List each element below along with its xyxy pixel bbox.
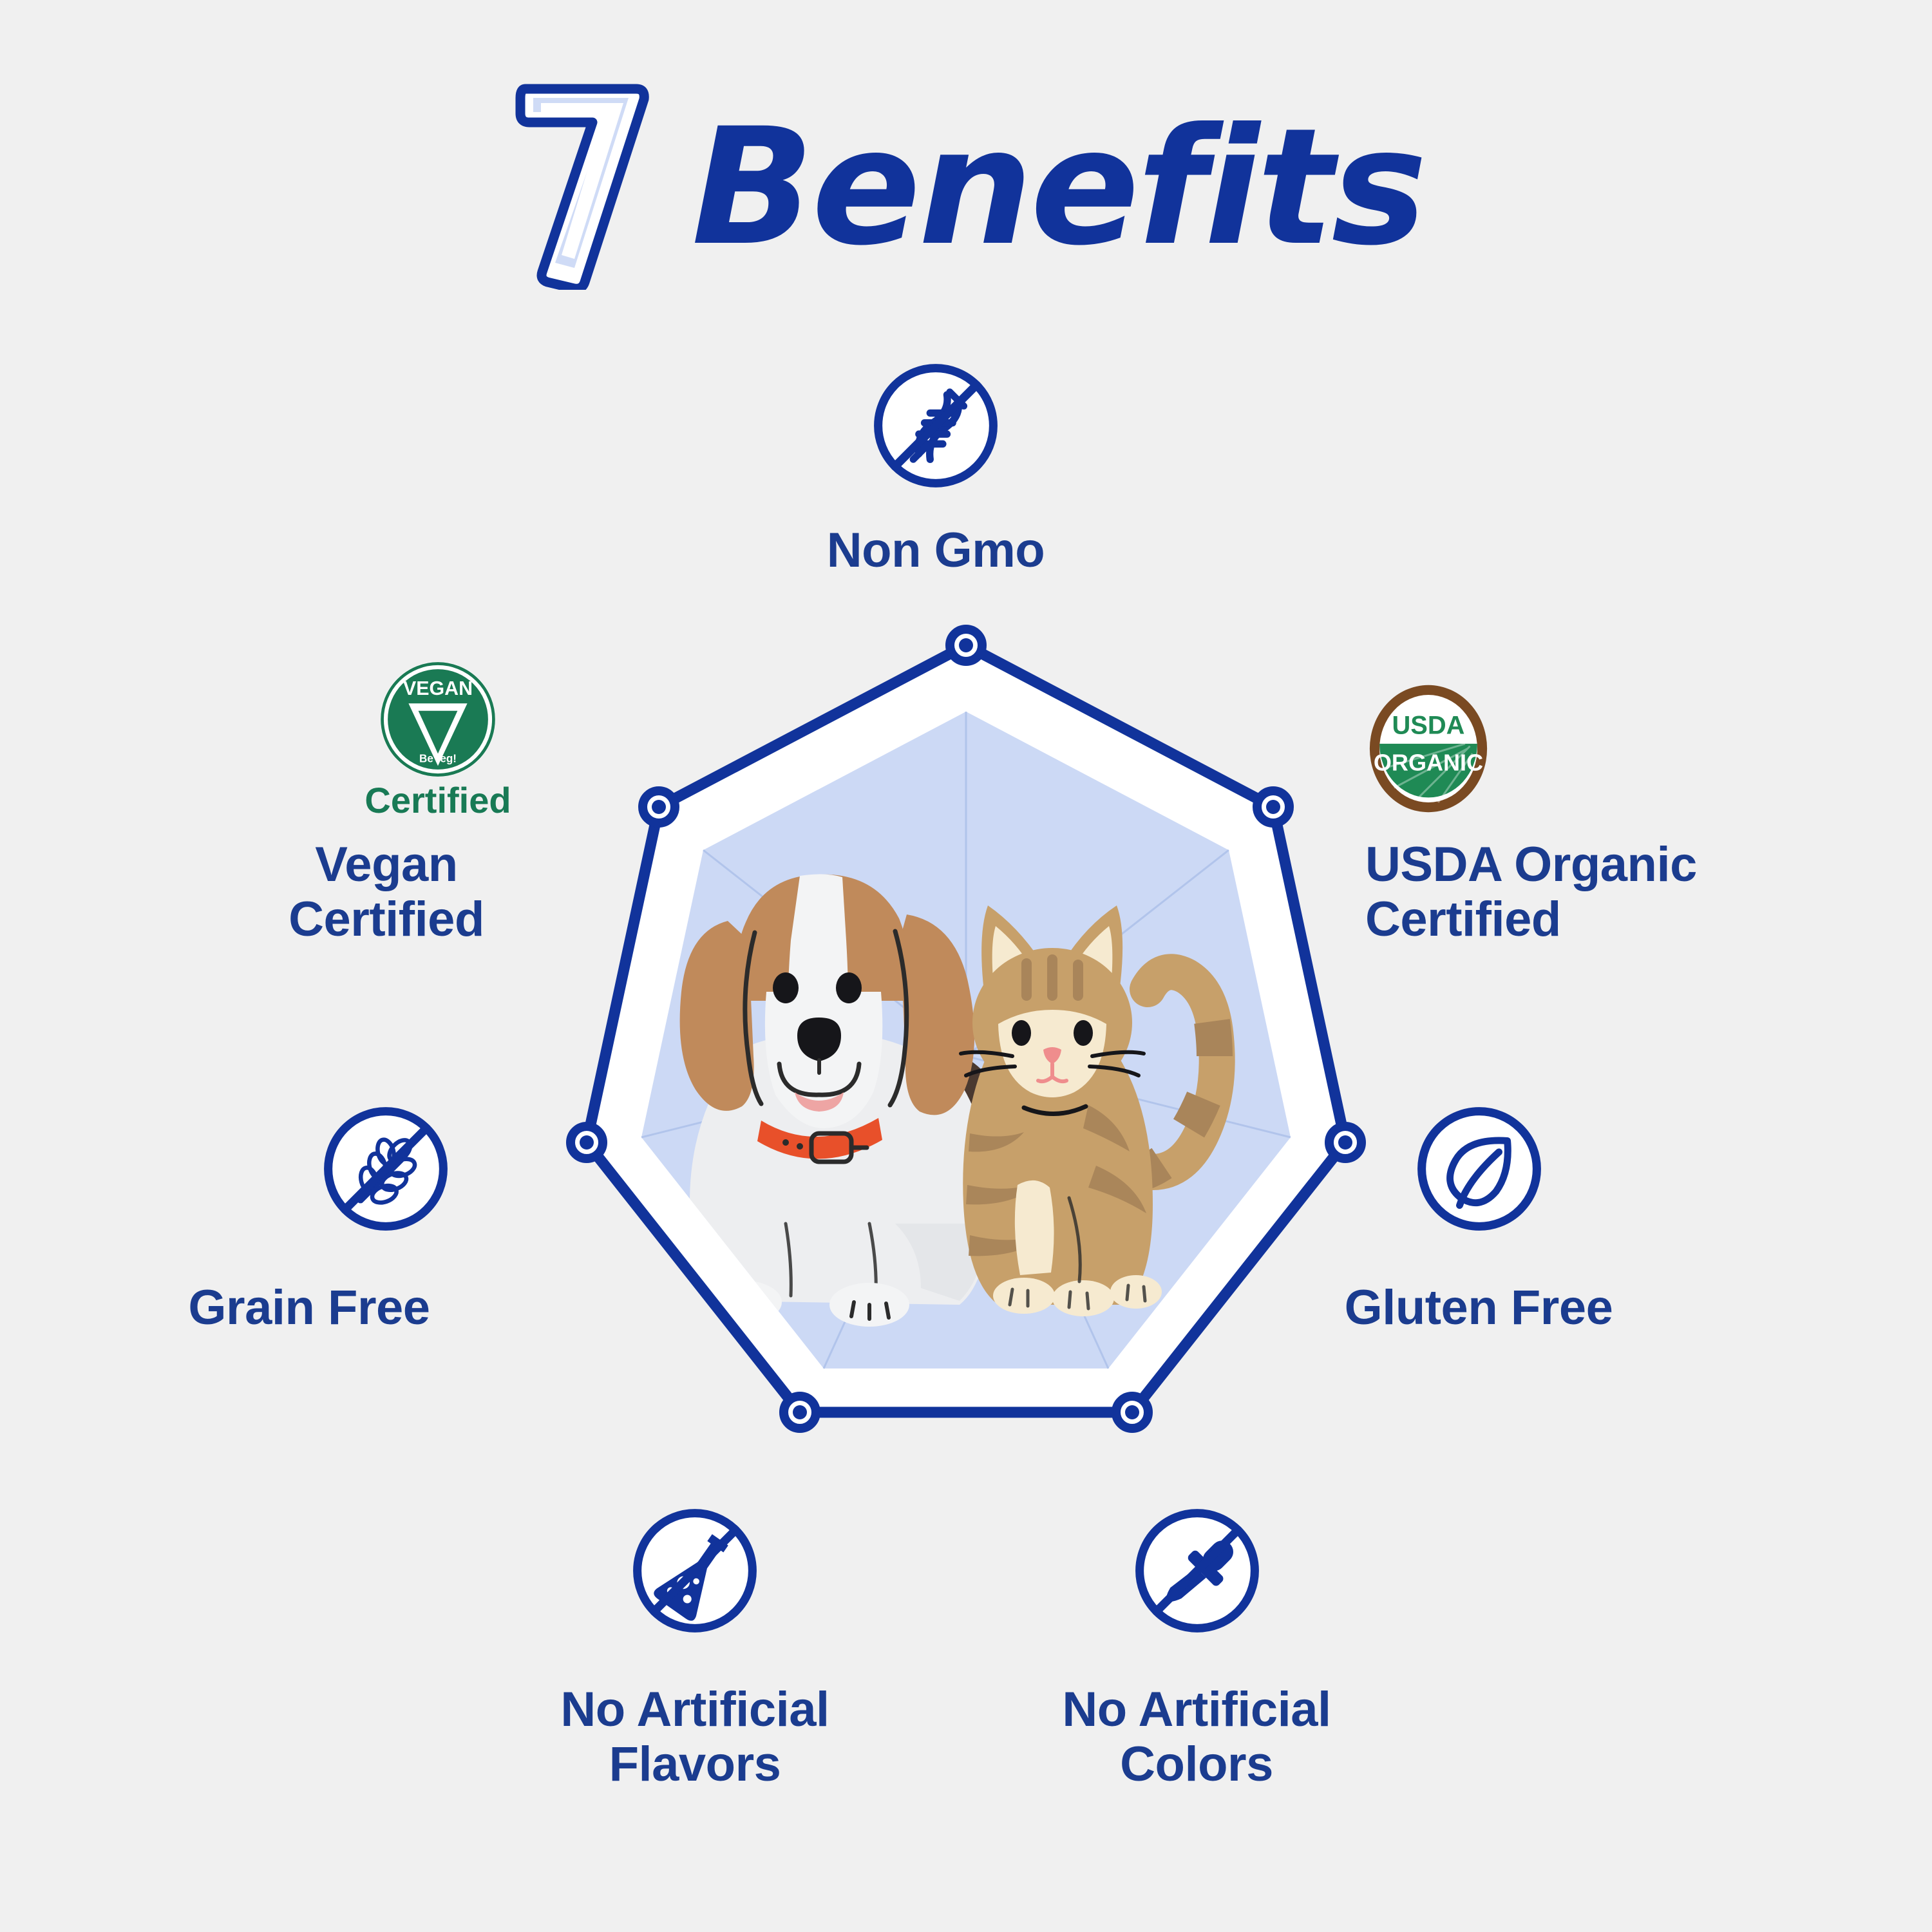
vegan-seal-caption: Certified [309, 779, 567, 821]
benefit-label-gluten-free: Gluten Free [1189, 1280, 1768, 1335]
no-wheat-icon[interactable] [316, 1099, 456, 1239]
title-number-seven-icon [507, 77, 675, 290]
benefit-label-grain-free: Grain Free [39, 1280, 580, 1335]
benefit-label-no-artificial-flavors: No Artificial Flavors [405, 1682, 985, 1792]
page-title: Benefits [0, 77, 1932, 290]
vegan-seal-top-text: VEGAN [403, 677, 473, 699]
benefit-label-vegan-certified: Vegan Certified [142, 837, 631, 947]
benefit-label-no-artificial-colors: No Artificial Colors [907, 1682, 1486, 1792]
central-heptagon-illustration [509, 605, 1423, 1468]
benefit-label-usda-organic-certified: USDA Organic Certified [1365, 837, 1829, 947]
usda-organic-seal[interactable]: USDA ORGANIC [1367, 683, 1490, 815]
benefit-label-non-gmo: Non Gmo [646, 523, 1226, 578]
leaf-icon[interactable] [1409, 1099, 1549, 1239]
usda-seal-bottom-text: ORGANIC [1374, 750, 1483, 776]
no-dna-icon[interactable] [866, 355, 1006, 496]
vegan-seal-bottom-text: BeVeg! [419, 753, 457, 765]
no-dropper-icon[interactable] [1127, 1501, 1267, 1641]
vegan-beveg-seal[interactable]: VEGAN BeVeg! [377, 658, 499, 781]
usda-seal-top-text: USDA [1392, 712, 1465, 740]
infographic-canvas: Benefits [0, 0, 1932, 1932]
no-flask-icon[interactable] [625, 1501, 765, 1641]
title-word: Benefits [692, 107, 1425, 268]
